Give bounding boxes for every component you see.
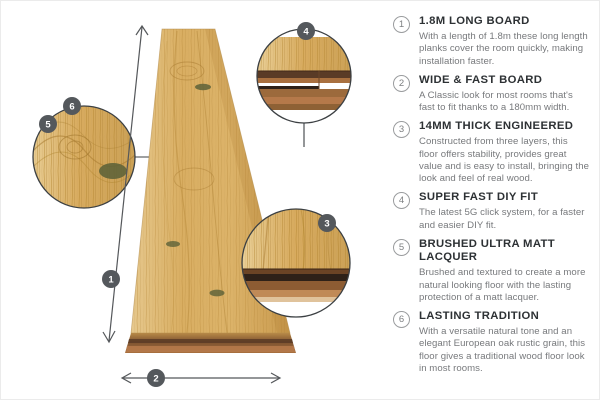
feature-list: 1 1.8M LONG BOARD With a length of 1.8m … bbox=[373, 1, 600, 401]
product-illustration: 1 2 3 4 5 bbox=[1, 1, 373, 401]
badge-1[interactable]: 1 bbox=[102, 270, 120, 288]
feature-title-5: BRUSHED ULTRA MATT LACQUER bbox=[419, 238, 589, 265]
feature-item-1: 1 1.8M LONG BOARD With a length of 1.8m … bbox=[385, 15, 589, 68]
feature-body-5: Brushed and textured to create a more na… bbox=[419, 267, 589, 304]
feature-item-6: 6 LASTING TRADITION With a versatile nat… bbox=[385, 310, 589, 375]
feature-title-1: 1.8M LONG BOARD bbox=[419, 15, 589, 28]
feature-title-2: WIDE & FAST BOARD bbox=[419, 74, 589, 87]
feature-marker-3: 3 bbox=[393, 121, 410, 138]
badge-6[interactable]: 6 bbox=[63, 97, 81, 115]
feature-title-4: SUPER FAST DIY FIT bbox=[419, 191, 589, 204]
feature-item-5: 5 BRUSHED ULTRA MATT LACQUER Brushed and… bbox=[385, 238, 589, 304]
feature-item-2: 2 WIDE & FAST BOARD A Classic look for m… bbox=[385, 74, 589, 115]
feature-marker-4: 4 bbox=[393, 192, 410, 209]
feature-body-4: The latest 5G click system, for a faster… bbox=[419, 207, 589, 232]
svg-text:4: 4 bbox=[303, 27, 309, 38]
feature-marker-2: 2 bbox=[393, 75, 410, 92]
feature-body-3: Constructed from three layers, this floo… bbox=[419, 136, 589, 185]
svg-text:3: 3 bbox=[324, 219, 329, 230]
badge-4[interactable]: 4 bbox=[297, 22, 315, 40]
width-dimension-arrow bbox=[122, 373, 280, 383]
feature-title-6: LASTING TRADITION bbox=[419, 310, 589, 323]
feature-body-1: With a length of 1.8m these long length … bbox=[419, 31, 589, 68]
infographic-canvas: 1 2 3 4 5 bbox=[0, 0, 600, 400]
feature-marker-1: 1 bbox=[393, 16, 410, 33]
feature-body-6: With a versatile natural tone and an ele… bbox=[419, 326, 589, 375]
feature-item-4: 4 SUPER FAST DIY FIT The latest 5G click… bbox=[385, 191, 589, 232]
feature-body-2: A Classic look for most rooms that's fas… bbox=[419, 90, 589, 115]
svg-text:1: 1 bbox=[108, 275, 114, 286]
svg-text:5: 5 bbox=[45, 120, 51, 131]
svg-text:6: 6 bbox=[69, 102, 74, 113]
badge-5[interactable]: 5 bbox=[39, 115, 57, 133]
click-system-detail-circle bbox=[257, 29, 361, 123]
svg-text:2: 2 bbox=[153, 374, 158, 385]
feature-marker-5: 5 bbox=[393, 239, 410, 256]
badge-3[interactable]: 3 bbox=[318, 214, 336, 232]
thickness-layers-detail-circle bbox=[242, 209, 358, 317]
feature-title-3: 14MM THICK ENGINEERED bbox=[419, 120, 589, 133]
badge-2[interactable]: 2 bbox=[147, 369, 165, 387]
feature-marker-6: 6 bbox=[393, 311, 410, 328]
feature-item-3: 3 14MM THICK ENGINEERED Constructed from… bbox=[385, 120, 589, 185]
